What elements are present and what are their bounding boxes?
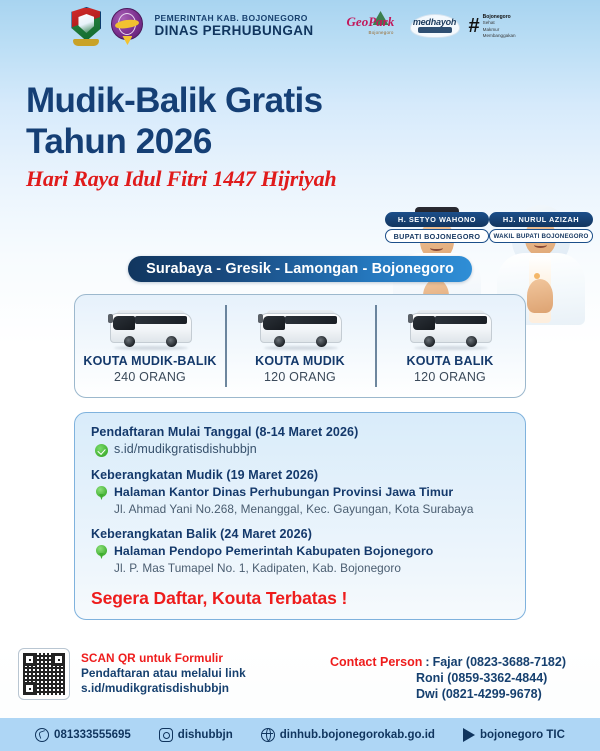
bojonegoro-tagline-logo-icon: # Bojonegoro Sehat Makmur Membanggakan: [469, 12, 531, 40]
official-role-1: BUPATI BOJONEGORO: [385, 229, 489, 243]
globe-icon: [261, 728, 275, 742]
contact-person-0: Fajar (0823-3688-7182): [433, 655, 566, 669]
bus-icon: [404, 303, 496, 351]
map-pin-icon: [95, 486, 108, 501]
quota-amount-2: 120 ORANG: [414, 370, 486, 384]
contact-separator: :: [422, 655, 432, 669]
green-check-icon: [95, 444, 108, 457]
departure-back-heading: Keberangkatan Balik (24 Maret 2026): [91, 527, 509, 541]
official-name-2: HJ. NURUL AZIZAH: [489, 212, 593, 227]
quota-title-2: KOUTA BALIK: [407, 354, 494, 368]
poster-title: Mudik-Balik Gratis Tahun 2026 Hari Raya …: [26, 82, 386, 192]
footer-item-whatsapp[interactable]: 081333555695: [35, 728, 131, 742]
partner-logos: GeoPark Bojonegoro medhayoh # Bojonegoro…: [347, 11, 531, 41]
footer-item-website[interactable]: dinhub.bojonegorokab.go.id: [261, 728, 435, 742]
registration-heading: Pendaftaran Mulai Tanggal (8-14 Maret 20…: [91, 425, 509, 439]
quota-amount-1: 120 ORANG: [264, 370, 336, 384]
official-nameplate-2: HJ. NURUL AZIZAH WAKIL BUPATI BOJONEGORO: [489, 212, 593, 243]
departure-out-heading: Keberangkatan Mudik (19 Maret 2026): [91, 468, 509, 482]
instagram-icon: [159, 728, 173, 742]
bus-icon: [104, 303, 196, 351]
qr-line2: Pendaftaran atau melalui link: [81, 666, 246, 680]
contact-label: Contact Person: [330, 655, 422, 669]
quota-amount-0: 240 ORANG: [114, 370, 186, 384]
quota-title-1: KOUTA MUDIK: [255, 354, 345, 368]
footer-item-video[interactable]: bojonegoro TIC: [463, 728, 565, 742]
qr-line3[interactable]: s.id/mudikgratisdishubbjn: [81, 681, 246, 695]
qr-code-icon[interactable]: [18, 648, 70, 700]
route-banner: Surabaya - Gresik - Lamongan - Bojonegor…: [128, 256, 472, 282]
whatsapp-icon: [35, 728, 49, 742]
bus-icon: [254, 303, 346, 351]
footer-bar: 081333555695 dishubbjn dinhub.bojonegoro…: [0, 718, 600, 751]
contact-person-2: Dwi (0821-4299-9678): [416, 687, 542, 701]
departure-out-block: Keberangkatan Mudik (19 Maret 2026) Hala…: [91, 468, 509, 516]
tagline-line-0: Bojonegoro: [483, 14, 516, 20]
medhayoh-logo-icon: medhayoh: [410, 12, 460, 40]
footer-text-instagram: dishubbjn: [178, 729, 233, 741]
registration-link[interactable]: s.id/mudikgratisdishubbjn: [114, 442, 257, 456]
departure-back-address: Jl. P. Mas Tumapel No. 1, Kadipaten, Kab…: [91, 561, 509, 575]
footer-text-whatsapp: 081333555695: [54, 729, 131, 741]
officials-group: H. SETYO WAHONO BUPATI BOJONEGORO HJ. NU…: [383, 83, 595, 245]
geopark-sub: Bojonegoro: [369, 30, 394, 35]
departure-out-place: Halaman Kantor Dinas Perhubungan Provins…: [114, 485, 453, 499]
title-line1: Mudik-Balik Gratis: [26, 82, 386, 120]
official-nameplate-1: H. SETYO WAHONO BUPATI BOJONEGORO: [385, 212, 489, 243]
info-panel: Pendaftaran Mulai Tanggal (8-14 Maret 20…: [74, 412, 526, 620]
quota-card-1: KOUTA MUDIK 120 ORANG: [225, 295, 375, 397]
geopark-script: GeoPark: [347, 15, 395, 28]
quota-panel: KOUTA MUDIK-BALIK 240 ORANG KOUTA MUDIK …: [74, 294, 526, 398]
title-line2: Tahun 2026: [26, 122, 386, 161]
tagline-line-2: Makmur: [483, 27, 516, 33]
geopark-logo-icon: GeoPark Bojonegoro: [347, 11, 401, 41]
contact-block: Contact Person : Fajar (0823-3688-7182) …: [330, 655, 566, 701]
departure-back-block: Keberangkatan Balik (24 Maret 2026) Hala…: [91, 527, 509, 575]
tagline-line-1: Sehat: [483, 20, 516, 26]
quota-card-2: KOUTA BALIK 120 ORANG: [375, 295, 525, 397]
agency-line2: DINAS PERHUBUNGAN: [154, 23, 313, 39]
map-pin-icon: [95, 545, 108, 560]
agency-title: PEMERINTAH KAB. BOJONEGORO DINAS PERHUBU…: [154, 13, 313, 39]
quota-card-0: KOUTA MUDIK-BALIK 240 ORANG: [75, 295, 225, 397]
official-name-1: H. SETYO WAHONO: [385, 212, 489, 227]
footer-text-website: dinhub.bojonegorokab.go.id: [280, 729, 435, 741]
qr-line1: SCAN QR untuk Formulir: [81, 651, 246, 665]
qr-block: SCAN QR untuk Formulir Pendaftaran atau …: [18, 648, 246, 700]
contact-person-1: Roni (0859-3362-4844): [416, 671, 547, 685]
hash-symbol: #: [469, 16, 480, 36]
official-role-2: WAKIL BUPATI BOJONEGORO: [489, 229, 593, 243]
footer-item-instagram[interactable]: dishubbjn: [159, 728, 233, 742]
medhayoh-word: medhayoh: [410, 17, 460, 27]
title-subtitle: Hari Raya Idul Fitri 1447 Hijriyah: [26, 166, 386, 192]
tagline-line-3: Membanggakan: [483, 33, 516, 39]
poster-root: PEMERINTAH KAB. BOJONEGORO DINAS PERHUBU…: [0, 0, 600, 751]
registration-block: Pendaftaran Mulai Tanggal (8-14 Maret 20…: [91, 425, 509, 457]
header-bar: PEMERINTAH KAB. BOJONEGORO DINAS PERHUBU…: [0, 0, 600, 52]
dishub-winged-globe-icon: [110, 8, 144, 44]
play-icon: [463, 728, 475, 742]
cta-text: Segera Daftar, Kouta Terbatas !: [91, 588, 509, 609]
bojonegoro-regency-crest-icon: [69, 6, 103, 46]
departure-back-place: Halaman Pendopo Pemerintah Kabupaten Boj…: [114, 544, 433, 558]
agency-line1: PEMERINTAH KAB. BOJONEGORO: [154, 13, 313, 23]
departure-out-address: Jl. Ahmad Yani No.268, Menanggal, Kec. G…: [91, 502, 509, 516]
quota-title-0: KOUTA MUDIK-BALIK: [83, 354, 216, 368]
footer-text-video: bojonegoro TIC: [480, 729, 565, 741]
